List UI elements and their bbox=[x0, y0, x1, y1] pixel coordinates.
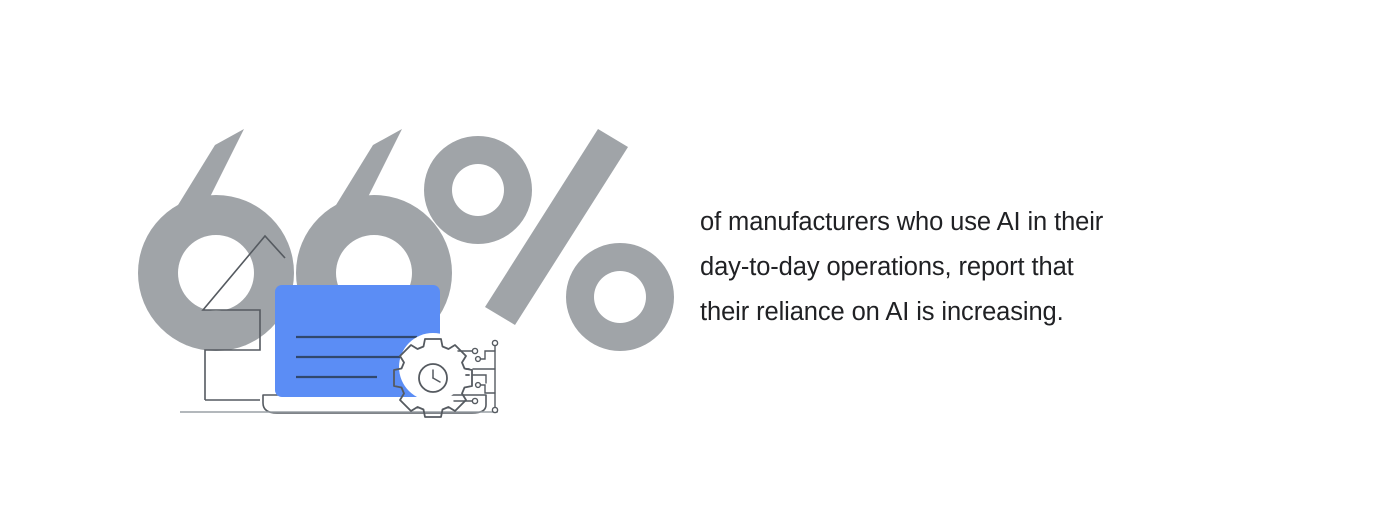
digit-six-first bbox=[138, 129, 294, 351]
percent-symbol bbox=[424, 129, 674, 351]
statement-text: of manufacturers who use AI in their day… bbox=[700, 200, 1170, 335]
stat-illustration bbox=[120, 105, 690, 425]
statement-line-1: of manufacturers who use AI in their bbox=[700, 200, 1170, 245]
statement-line-3: their reliance on AI is increasing. bbox=[700, 290, 1170, 335]
stat-figure: of manufacturers who use AI in their day… bbox=[0, 0, 1379, 530]
statement-line-2: day-to-day operations, report that bbox=[700, 245, 1170, 290]
laptop-base bbox=[180, 395, 498, 413]
